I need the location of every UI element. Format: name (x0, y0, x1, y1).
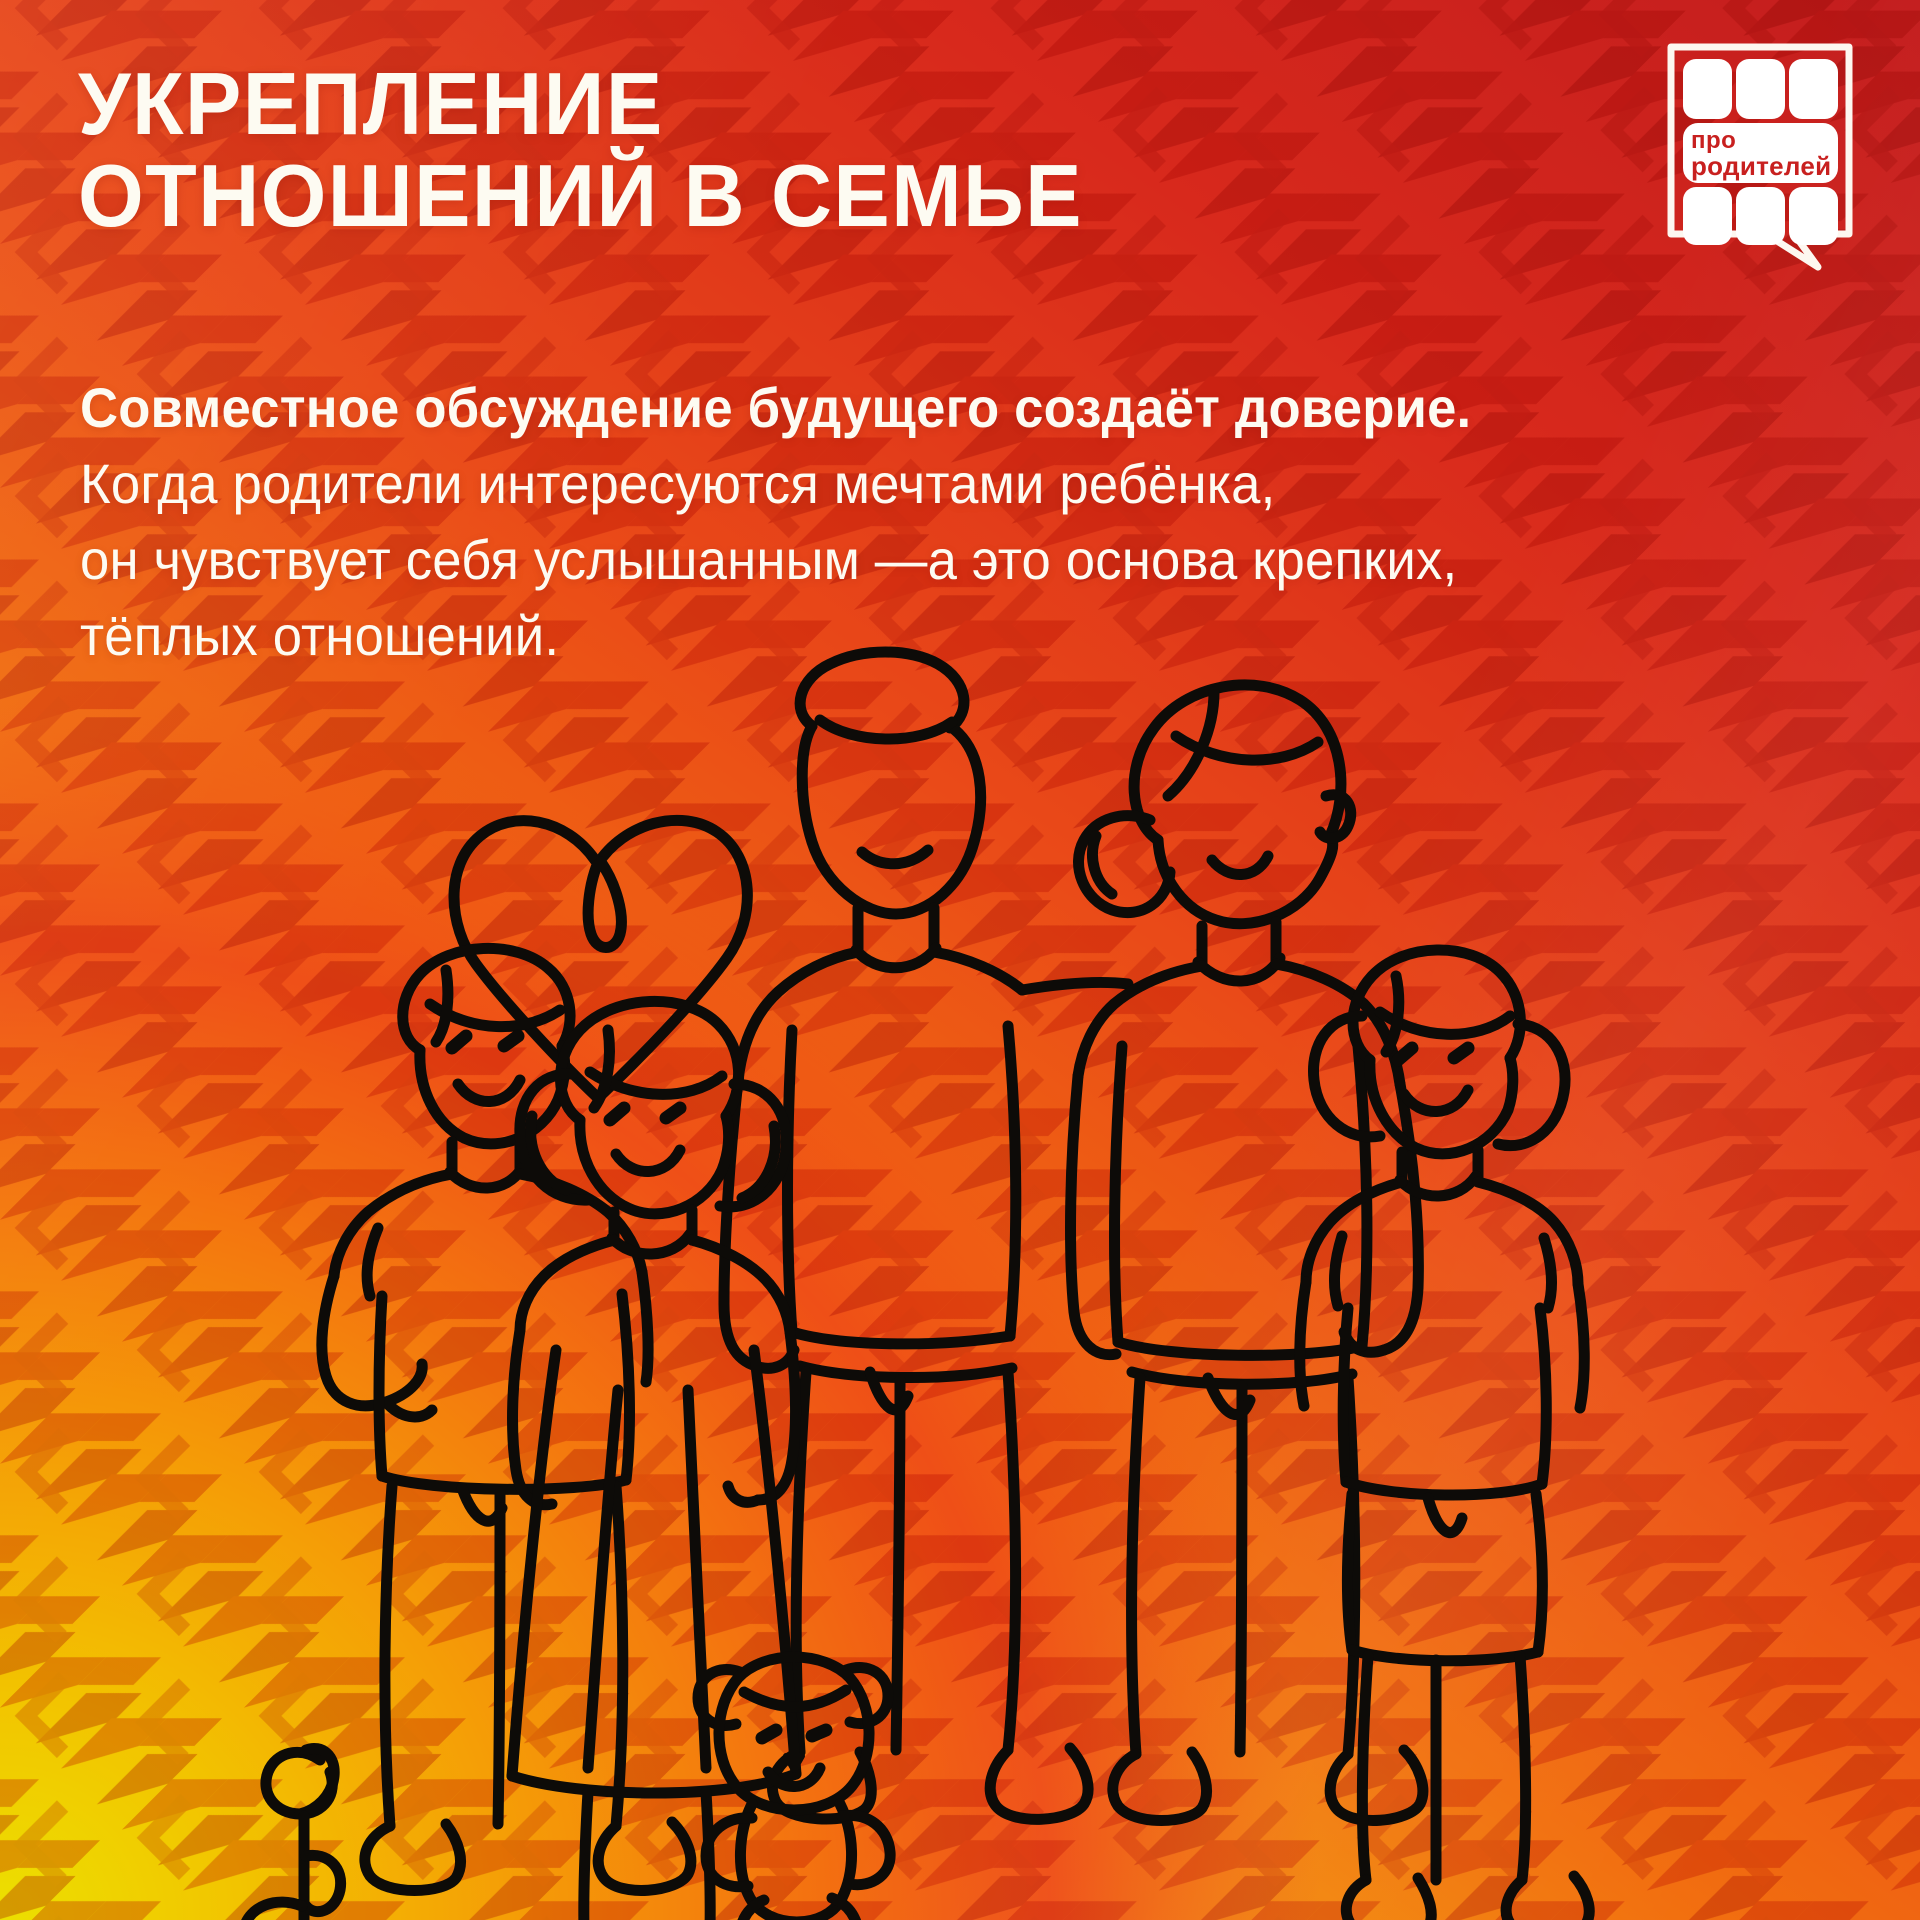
body-line-1: Совместное обсуждение будущего создаёт д… (80, 370, 1622, 446)
heart-icon (454, 820, 747, 1098)
title-line-2: ОТНОШЕНИЙ В СЕМЬЕ (78, 150, 1278, 242)
brand-logo[interactable]: про родителей (1662, 38, 1858, 274)
logo-tiles-top (1683, 59, 1838, 119)
body-line-2: Когда родители интересуются мечтами ребё… (80, 446, 1622, 522)
girl-child-right (1300, 950, 1589, 1920)
logo-tiles-bottom (1683, 187, 1838, 245)
title-line-1: УКРЕПЛЕНИЕ (78, 58, 1278, 150)
flower-sprout (243, 1748, 341, 1920)
logo-text-line-1: про (1691, 127, 1736, 154)
family-illustration (0, 560, 1920, 1920)
poster-canvas: УКРЕПЛЕНИЕ ОТНОШЕНИЙ В СЕМЬЕ Совместное … (0, 0, 1920, 1920)
girl-child-left (512, 1001, 796, 1920)
page-title: УКРЕПЛЕНИЕ ОТНОШЕНИЙ В СЕМЬЕ (78, 58, 1278, 241)
logo-text-line-2: родителей (1691, 151, 1831, 181)
